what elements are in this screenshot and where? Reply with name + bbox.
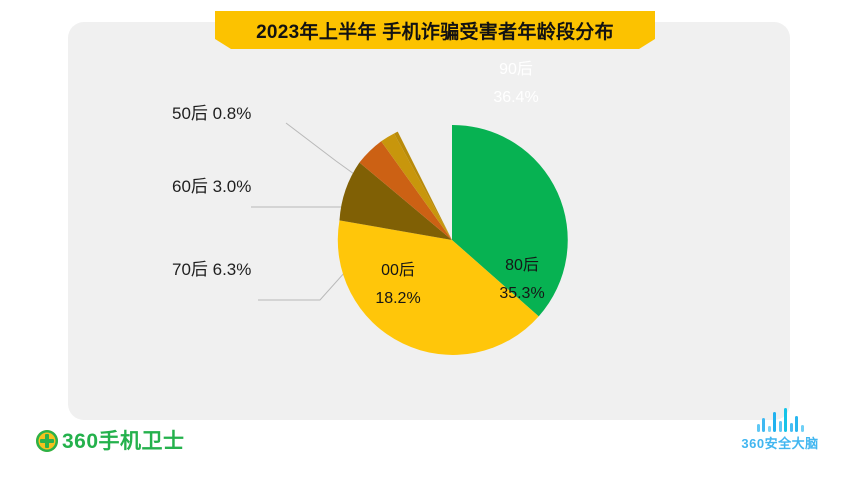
poster-root: 2023年上半年 手机诈骗受害者年龄段分布 90后 36.4% 80后 xyxy=(0,0,855,478)
pie-label-00后-name: 00后 xyxy=(381,261,415,279)
pie-label-00后-value: 18.2% xyxy=(375,290,420,307)
pie-chart-svg: 90后 36.4% 80后 35.3% 00后 18.2% 50后 0.8% 6… xyxy=(68,22,790,420)
leader-line-50后 xyxy=(286,123,361,179)
footer-logo-right-label: 360安全大脑 xyxy=(741,437,818,450)
pie-outside-label-60后: 60后 3.0% xyxy=(172,177,251,196)
pie-label-80后-name: 80后 xyxy=(505,256,539,274)
waveform-bars-icon xyxy=(757,408,804,432)
pie-chart: 90后 36.4% 80后 35.3% 00后 18.2% 50后 0.8% 6… xyxy=(68,22,790,420)
pie-label-80后-value: 35.3% xyxy=(499,285,544,302)
footer-logo-360-mobile-guard: 360手机卫士 xyxy=(36,430,185,452)
footer-logo-left-label: 360手机卫士 xyxy=(62,431,185,452)
pie-outside-label-70后: 70后 6.3% xyxy=(172,260,251,279)
pie-label-90后-value: 36.4% xyxy=(493,89,538,106)
footer-logo-360-security-brain: 360安全大脑 xyxy=(730,408,830,450)
360-shield-plus-icon xyxy=(36,430,58,452)
pie-outside-label-50后: 50后 0.8% xyxy=(172,104,251,123)
pie-label-90后-name: 90后 xyxy=(499,60,533,78)
page-title: 2023年上半年 手机诈骗受害者年龄段分布 xyxy=(215,11,655,49)
